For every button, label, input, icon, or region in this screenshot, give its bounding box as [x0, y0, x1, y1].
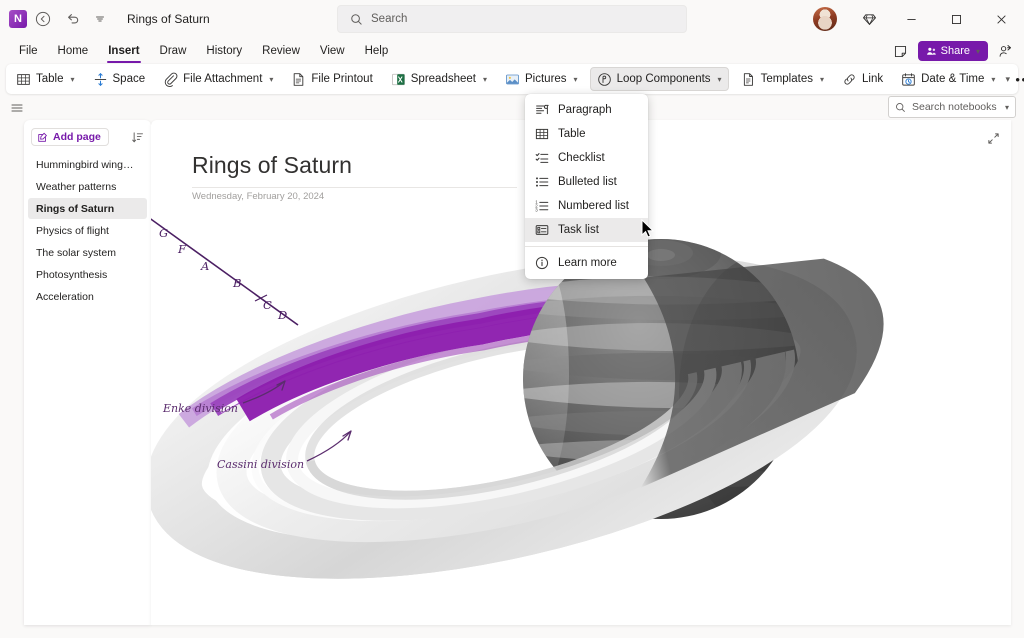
sort-icon: [131, 131, 144, 144]
picture-icon: [505, 72, 520, 87]
chevron-down-icon: ▾: [991, 75, 995, 84]
toolbar-label-date-time: Date & Time: [921, 73, 984, 85]
numbered-list-icon: 123: [535, 199, 549, 213]
toolbar-button-file-printout[interactable]: File Printout: [285, 67, 378, 91]
page-list-item[interactable]: Weather patterns: [28, 176, 147, 197]
title-bar-left-group: N Rings of Saturn: [0, 5, 210, 33]
toolbar-button-spreadsheet[interactable]: Spreadsheet ▾: [385, 67, 493, 91]
svg-text:3: 3: [535, 207, 538, 212]
annotation-enke-division: Enke division: [162, 402, 238, 415]
toolbar-label-pictures: Pictures: [525, 73, 567, 85]
ribbon-tab-view[interactable]: View: [310, 38, 355, 64]
page-list-item-selected[interactable]: Rings of Saturn: [28, 198, 147, 219]
insert-space-icon: [93, 72, 108, 87]
customize-quick-access-icon[interactable]: [89, 5, 111, 33]
toolbar-label-file-attachment: File Attachment: [183, 73, 262, 85]
search-icon: [350, 13, 363, 26]
toolbar-label-spreadsheet: Spreadsheet: [411, 73, 476, 85]
menu-item-label: Numbered list: [558, 200, 629, 212]
notebook-search-input[interactable]: Search notebooks ▾: [888, 96, 1016, 118]
chevron-down-icon[interactable]: ▾: [1005, 103, 1009, 112]
toolbar-button-date-time[interactable]: Date & Time ▾: [895, 67, 1001, 91]
title-bar: N Rings of Saturn Search: [0, 0, 1024, 38]
file-printout-icon: [291, 72, 306, 87]
toolbar-button-file-attachment[interactable]: File Attachment ▾: [157, 67, 279, 91]
bulleted-list-icon: [535, 175, 549, 189]
toolbar-label-file-printout: File Printout: [311, 73, 372, 85]
templates-icon: [741, 72, 756, 87]
annotation-cassini-division: Cassini division: [217, 458, 304, 471]
menu-item-label: Task list: [558, 224, 599, 236]
toolbar-label-link: Link: [862, 73, 883, 85]
onenote-window: N Rings of Saturn Search: [0, 0, 1024, 638]
share-people-icon: [926, 46, 937, 57]
chevron-down-icon: ▾: [483, 75, 487, 84]
menu-item-label: Checklist: [558, 152, 605, 164]
toolbar-label-loop-components: Loop Components: [617, 73, 711, 85]
menu-item-label: Bulleted list: [558, 176, 617, 188]
mouse-cursor: [641, 219, 655, 244]
paperclip-icon: [163, 72, 178, 87]
chevron-down-icon: ▾: [718, 75, 722, 84]
ribbon-tab-home[interactable]: Home: [48, 38, 99, 64]
title-bar-right-group: [813, 0, 1024, 38]
menu-item-label: Learn more: [558, 257, 617, 269]
share-button[interactable]: Share ▾: [918, 41, 988, 61]
document-title[interactable]: Rings of Saturn: [127, 12, 210, 26]
toolbar-button-space[interactable]: Space: [87, 67, 152, 91]
toolbar-label-space: Space: [113, 73, 146, 85]
info-icon: [535, 256, 549, 270]
menu-item-label: Paragraph: [558, 104, 612, 116]
page-list-pane: Add page Hummingbird wing… Weather patte…: [24, 120, 151, 625]
sub-header: Search notebooks ▾: [0, 96, 1024, 120]
ring-label-F: F: [177, 242, 187, 256]
toolbar-button-loop-components[interactable]: Loop Components ▾: [590, 67, 729, 91]
search-placeholder: Search: [371, 13, 407, 25]
page-list-item[interactable]: Acceleration: [28, 286, 147, 307]
menu-item-bulleted-list[interactable]: Bulleted list: [525, 170, 648, 194]
undo-icon[interactable]: [59, 5, 87, 33]
ribbon-tab-file[interactable]: File: [9, 38, 48, 64]
ring-label-C: C: [263, 298, 272, 312]
sticky-note-icon[interactable]: [888, 40, 914, 62]
close-icon[interactable]: [979, 0, 1024, 38]
ribbon-tab-history[interactable]: History: [196, 38, 252, 64]
toolbar-button-pictures[interactable]: Pictures ▾: [499, 67, 584, 91]
menu-item-table[interactable]: Table: [525, 122, 648, 146]
maximize-icon[interactable]: [934, 0, 979, 38]
chevron-down-icon: ▾: [976, 47, 980, 56]
ribbon-tab-draw[interactable]: Draw: [150, 38, 197, 64]
add-page-label: Add page: [53, 131, 101, 143]
table-icon: [16, 72, 31, 87]
toolbar-label-table: Table: [36, 73, 64, 85]
date-time-icon: [901, 72, 916, 87]
page-list-item[interactable]: Hummingbird wing…: [28, 154, 147, 175]
page-list-header: Add page: [24, 120, 151, 152]
task-list-icon: [535, 223, 549, 237]
onenote-logo: N: [9, 10, 27, 28]
share-label: Share: [941, 45, 970, 57]
ribbon-tab-help[interactable]: Help: [355, 38, 399, 64]
toolbar-button-link[interactable]: Link: [836, 67, 889, 91]
table-icon: [535, 127, 549, 141]
insert-toolbar: Table ▾ Space File Attachment ▾ File Pri…: [6, 64, 1018, 94]
paragraph-icon: [535, 103, 549, 117]
toolbar-label-templates: Templates: [761, 73, 813, 85]
chevron-down-icon: ▾: [71, 75, 75, 84]
ribbon-tab-review[interactable]: Review: [252, 38, 310, 64]
page-list-item[interactable]: The solar system: [28, 242, 147, 263]
ribbon-right-group: Share ▾: [888, 38, 1018, 64]
page-list-items: Hummingbird wing… Weather patterns Rings…: [24, 152, 151, 310]
ring-label-G: G: [159, 226, 168, 240]
link-icon: [842, 72, 857, 87]
page-title[interactable]: Rings of Saturn: [192, 152, 352, 179]
menu-item-label: Table: [558, 128, 586, 140]
add-page-button[interactable]: Add page: [31, 128, 109, 146]
menu-item-checklist[interactable]: Checklist: [525, 146, 648, 170]
toolbar-button-templates[interactable]: Templates ▾: [735, 67, 830, 91]
menu-item-learn-more[interactable]: Learn more: [525, 251, 648, 275]
menu-item-task-list[interactable]: Task list: [525, 218, 648, 242]
sort-pages-button[interactable]: [131, 131, 144, 144]
loop-icon: [597, 72, 612, 87]
ring-label-A: A: [200, 259, 209, 273]
title-divider: [192, 187, 517, 188]
menu-item-paragraph[interactable]: Paragraph: [525, 98, 648, 122]
search-icon: [895, 102, 906, 113]
diamond-icon[interactable]: [849, 0, 889, 38]
new-page-icon: [37, 132, 48, 143]
chevron-down-icon: ▾: [269, 75, 273, 84]
ribbon-tab-strip: File Home Insert Draw History Review Vie…: [0, 38, 1024, 64]
ring-measure-line: [151, 215, 298, 325]
notebook-search-placeholder: Search notebooks: [912, 101, 997, 113]
toolbar-button-table[interactable]: Table ▾: [10, 67, 81, 91]
onenote-logo-letter: N: [14, 14, 22, 25]
page-list-item[interactable]: Physics of flight: [28, 220, 147, 241]
ring-label-B: B: [232, 276, 241, 290]
expand-canvas-icon[interactable]: [983, 128, 1003, 148]
ring-label-D: D: [277, 308, 287, 322]
page-list-item[interactable]: Photosynthesis: [28, 264, 147, 285]
page-date[interactable]: Wednesday, February 20, 2024: [192, 191, 324, 202]
menu-separator: [525, 246, 648, 247]
ribbon-tab-insert[interactable]: Insert: [98, 38, 149, 64]
chevron-down-icon: ▾: [820, 75, 824, 84]
avatar[interactable]: [813, 7, 837, 31]
person-share-icon[interactable]: [992, 40, 1018, 62]
chevron-down-icon: ▾: [574, 75, 578, 84]
ring-labels: G F A B C D: [159, 226, 287, 322]
navigation-menu-icon[interactable]: [6, 98, 28, 118]
menu-item-numbered-list[interactable]: 123 Numbered list: [525, 194, 648, 218]
toolbar-expand-chevron-down-icon[interactable]: ▾: [1005, 74, 1010, 85]
checklist-icon: [535, 151, 549, 165]
search-box[interactable]: Search: [337, 5, 687, 33]
back-arrow-icon[interactable]: [29, 5, 57, 33]
loop-components-menu: Paragraph Table Checklist Bulleted list …: [525, 94, 648, 279]
excel-spreadsheet-icon: [391, 72, 406, 87]
minimize-icon[interactable]: [889, 0, 934, 38]
